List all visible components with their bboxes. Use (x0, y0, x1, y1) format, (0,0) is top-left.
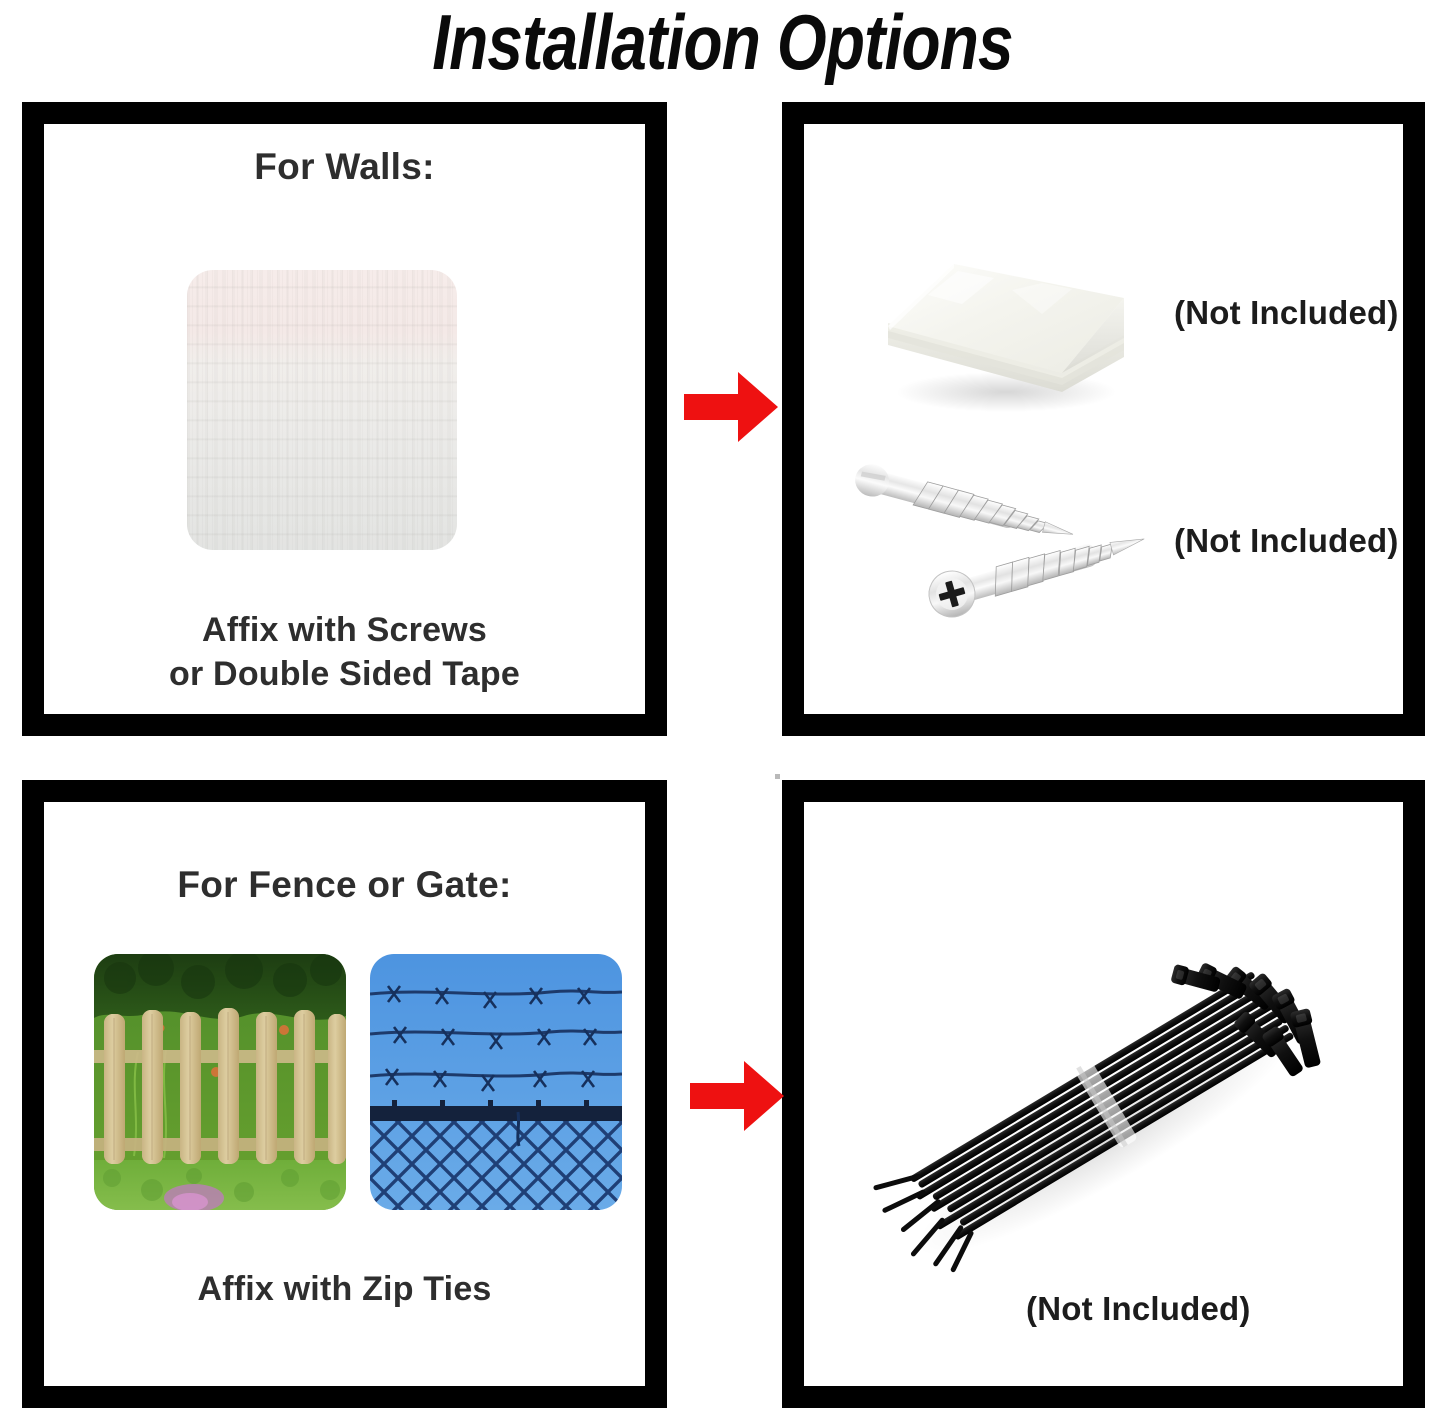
zip-ties-not-included-note: (Not Included) (1026, 1290, 1251, 1328)
wooden-picket-fence-photo (94, 954, 346, 1210)
caption-line-2: or Double Sided Tape (44, 652, 645, 696)
tape-not-included-note: (Not Included) (1174, 294, 1399, 332)
for-fence-or-gate-heading: For Fence or Gate: (44, 864, 645, 906)
arrow-right-icon-top (682, 369, 780, 445)
brick-speckle-texture (187, 270, 457, 550)
chain-link-barbed-wire-fence-photo (370, 954, 622, 1210)
scan-artifact-dot (775, 774, 780, 779)
wood-screws-image (834, 454, 1194, 644)
panel-wall-hardware: (Not Included) (782, 102, 1425, 736)
double-sided-tape-pads-image (866, 242, 1136, 422)
black-zip-ties-bundle-image (854, 892, 1364, 1292)
for-walls-heading: For Walls: (44, 146, 645, 188)
white-brick-wall-photo (187, 270, 457, 550)
screws-not-included-note: (Not Included) (1174, 522, 1399, 560)
panel-zip-ties: (Not Included) (782, 780, 1425, 1408)
for-walls-caption: Affix with Screws or Double Sided Tape (44, 608, 645, 696)
page-title: Installation Options (130, 0, 1315, 84)
panel-for-fence-or-gate: For Fence or Gate: (22, 780, 667, 1408)
arrow-right-icon-bottom (688, 1058, 786, 1134)
for-fence-caption: Affix with Zip Ties (44, 1270, 645, 1309)
panel-for-walls: For Walls: Affix with Screws or Double S… (22, 102, 667, 736)
caption-line-1: Affix with Screws (44, 608, 645, 652)
